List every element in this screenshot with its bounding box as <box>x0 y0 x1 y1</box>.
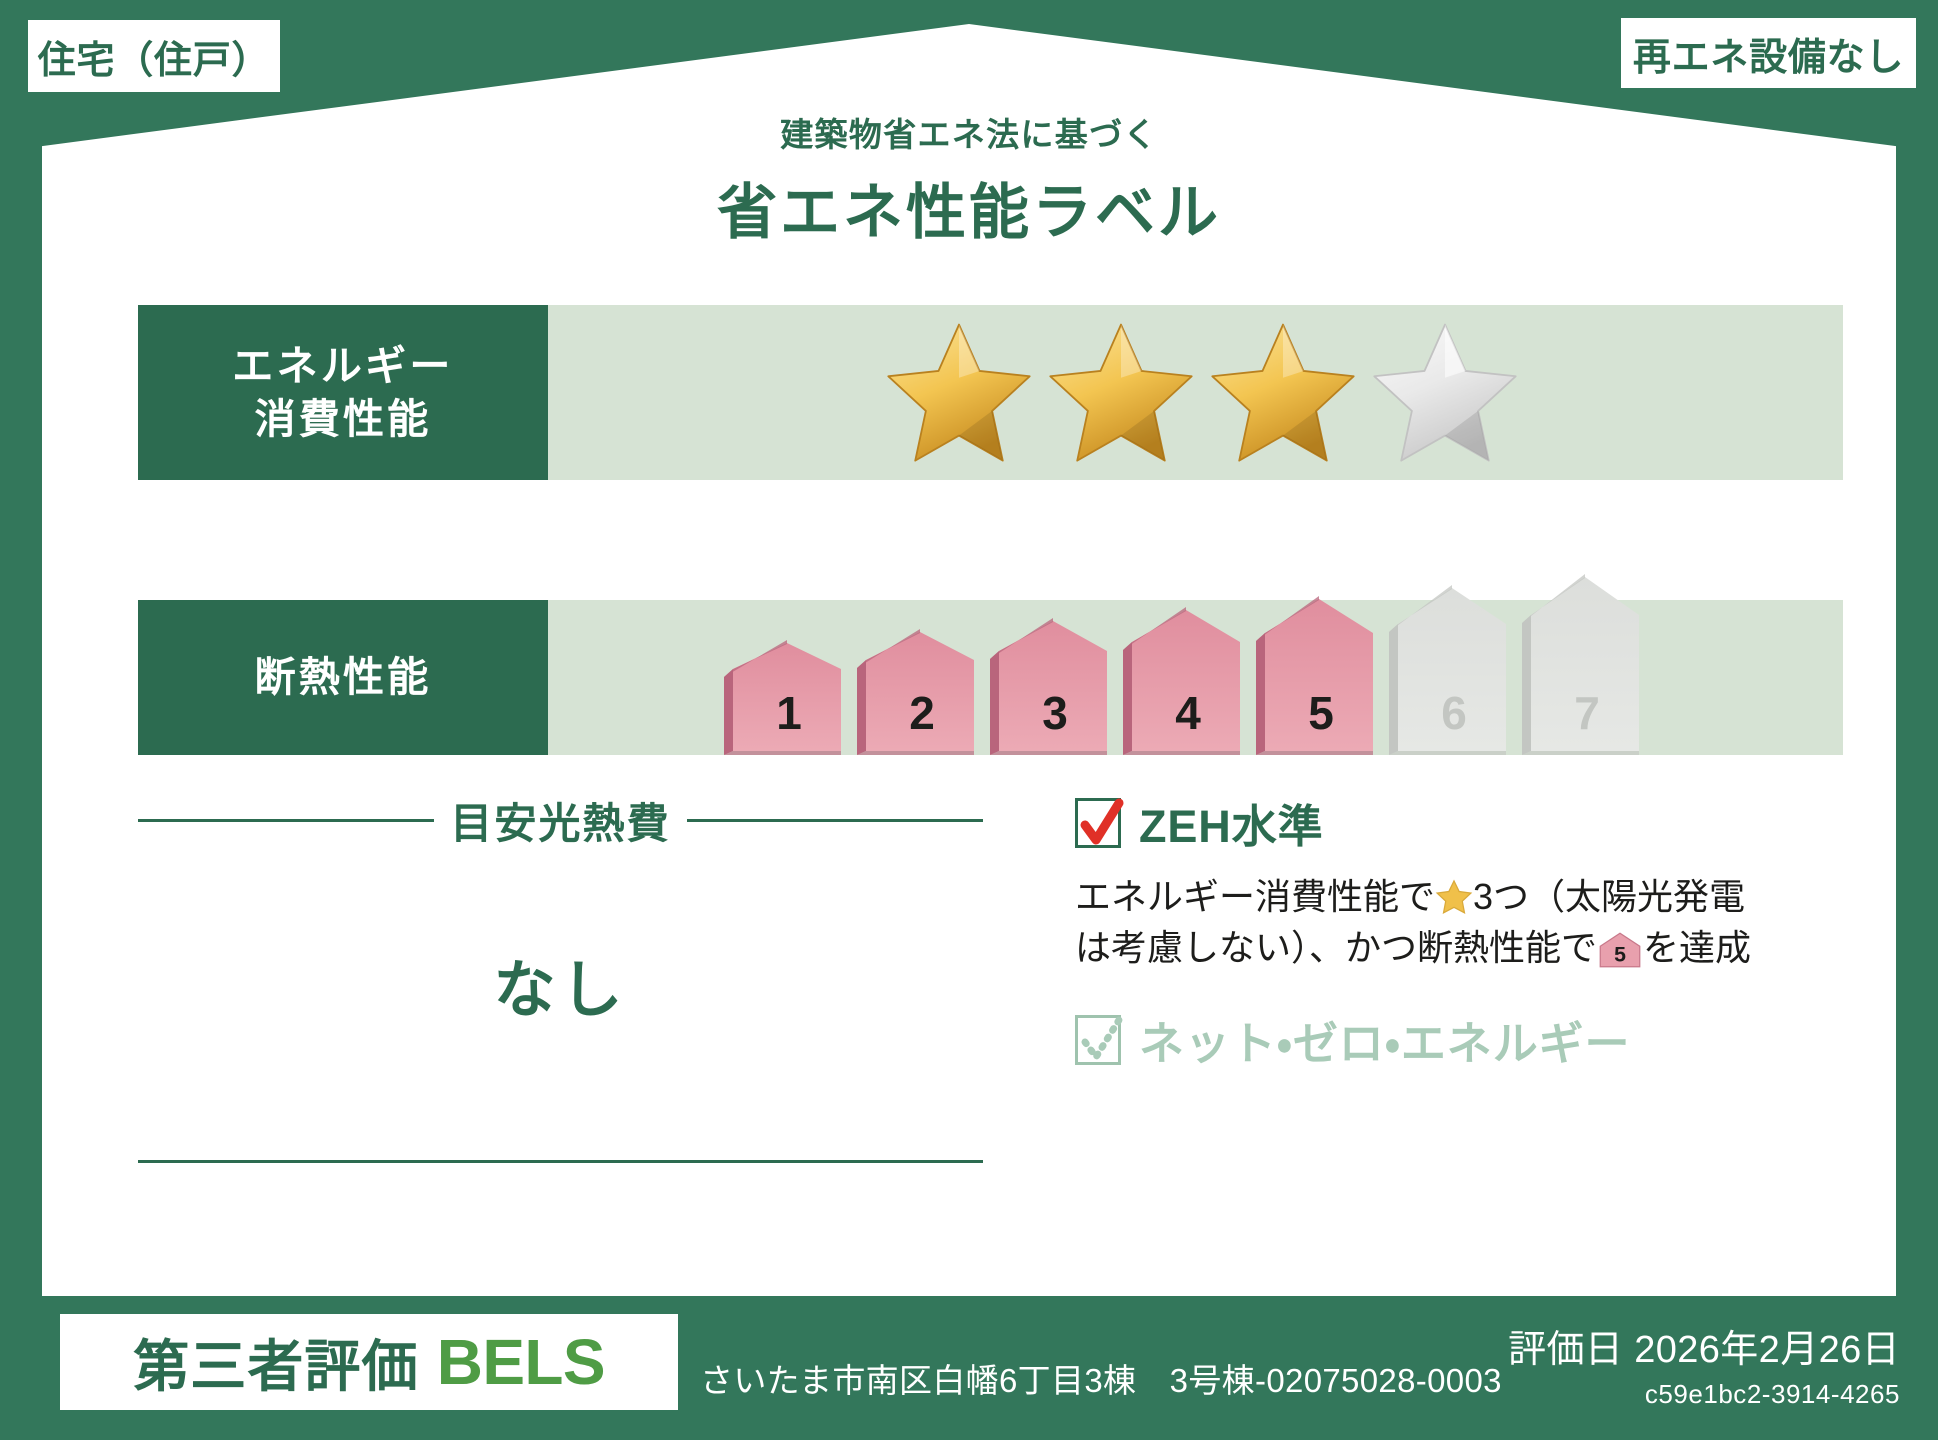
property-address: さいたま市南区白幡6丁目3棟 3号棟-02075028-0003 <box>700 1354 1502 1402</box>
row-energy-label-line1: エネルギー <box>232 340 453 392</box>
bels-logo: 第三者評価 BELS <box>60 1314 678 1410</box>
bels-energy-label: 住宅（住戸） 再エネ設備なし 建築物省エネ法に基づく 省エネ性能ラベル エネルギ… <box>0 0 1938 1440</box>
insulation-house-active: 4 <box>1122 606 1250 755</box>
row-energy-label: エネルギー 消費性能 <box>138 305 548 480</box>
star-icon-filled <box>1045 320 1197 466</box>
badge-building-type: 住宅（住戸） <box>28 20 280 92</box>
estimated-utility-cost-header: 目安光熱費 <box>138 790 983 851</box>
zeh-desc-part2: 3つ（太陽光発電 <box>1473 876 1745 917</box>
page-title: 省エネ性能ラベル <box>0 164 1938 251</box>
insulation-house-active: 1 <box>723 639 851 755</box>
house-grade-icon: 5 <box>1597 931 1643 969</box>
star-icon-filled <box>883 320 1035 466</box>
dotted-check-icon <box>1075 1015 1121 1065</box>
insulation-house-grade-label: 1 <box>776 687 802 739</box>
star-icon-filled <box>1207 320 1359 466</box>
zeh-title: ZEH水準 <box>1139 790 1324 855</box>
certificate-id: c59e1bc2-3914-4265 <box>1508 1379 1900 1410</box>
row-energy-performance: エネルギー 消費性能 <box>138 305 1843 480</box>
insulation-house-active: 3 <box>989 617 1117 755</box>
insulation-house-grade-label: 6 <box>1441 687 1467 739</box>
insulation-house-grade-label: 7 <box>1574 687 1600 739</box>
star-icon <box>1435 877 1473 913</box>
row-insulation-label-text: 断熱性能 <box>254 651 431 703</box>
badge-renewable-status-label: 再エネ設備なし <box>1633 26 1904 81</box>
net-zero-title: ネット・ゼロ・エネルギー <box>1139 1007 1630 1072</box>
cost-bottom-divider <box>138 1160 983 1163</box>
estimated-utility-cost-block: 目安光熱費 なし <box>138 790 983 1029</box>
estimated-utility-cost-title: 目安光熱費 <box>450 790 671 851</box>
badge-building-type-label: 住宅（住戸） <box>38 29 271 84</box>
evaluation-info: 評価日 2026年2月26日 c59e1bc2-3914-4265 <box>1508 1318 1900 1410</box>
zeh-desc-part4: を達成 <box>1643 927 1751 968</box>
bels-logo-jp: 第三者評価 <box>133 1322 419 1403</box>
evaluation-date: 評価日 2026年2月26日 <box>1508 1318 1900 1373</box>
zeh-desc-part1: エネルギー消費性能で <box>1075 876 1435 917</box>
insulation-grade-scale: 1234567 <box>723 573 1649 755</box>
insulation-house-active: 5 <box>1255 595 1383 755</box>
zeh-description: エネルギー消費性能で 3つ（太陽光発電 は考慮しない）、かつ断熱性能で 5 を達… <box>1075 871 1815 973</box>
insulation-house-grade-label: 5 <box>1308 687 1334 739</box>
insulation-house-grade-label: 4 <box>1175 687 1201 739</box>
rule-left <box>138 819 434 822</box>
badge-renewable-status: 再エネ設備なし <box>1621 18 1916 88</box>
estimated-utility-cost-value: なし <box>138 939 983 1029</box>
insulation-house-inactive: 7 <box>1521 573 1649 755</box>
star-rating <box>883 320 1521 480</box>
insulation-house-inactive: 6 <box>1388 584 1516 755</box>
row-insulation-label: 断熱性能 <box>138 600 548 755</box>
net-zero-checkbox-row: ネット・ゼロ・エネルギー <box>1075 1007 1815 1072</box>
label-footer: 第三者評価 BELS さいたま市南区白幡6丁目3棟 3号棟-02075028-0… <box>0 1296 1938 1440</box>
row-insulation-body: 1234567 <box>548 600 1843 755</box>
star-icon-empty <box>1369 320 1521 466</box>
zeh-checkbox-row: ZEH水準 <box>1075 790 1815 855</box>
bels-logo-en: BELS <box>437 1325 605 1399</box>
zeh-block: ZEH水準 エネルギー消費性能で 3つ（太陽光発電 は考慮しない）、かつ断熱性能… <box>1075 790 1815 1072</box>
label-titles: 建築物省エネ法に基づく 省エネ性能ラベル <box>0 108 1938 251</box>
house-grade-icon-value: 5 <box>1614 943 1626 967</box>
label-subtitle: 建築物省エネ法に基づく <box>0 108 1938 156</box>
zeh-desc-part3: は考慮しない）、かつ断熱性能で <box>1075 927 1597 968</box>
row-energy-label-line2: 消費性能 <box>254 393 431 445</box>
insulation-house-grade-label: 2 <box>909 687 935 739</box>
row-energy-body <box>548 305 1843 480</box>
check-icon <box>1075 798 1121 848</box>
insulation-house-active: 2 <box>856 628 984 755</box>
row-insulation-performance: 断熱性能 1234567 <box>138 600 1843 755</box>
rule-right <box>687 819 983 822</box>
insulation-house-grade-label: 3 <box>1042 687 1068 739</box>
